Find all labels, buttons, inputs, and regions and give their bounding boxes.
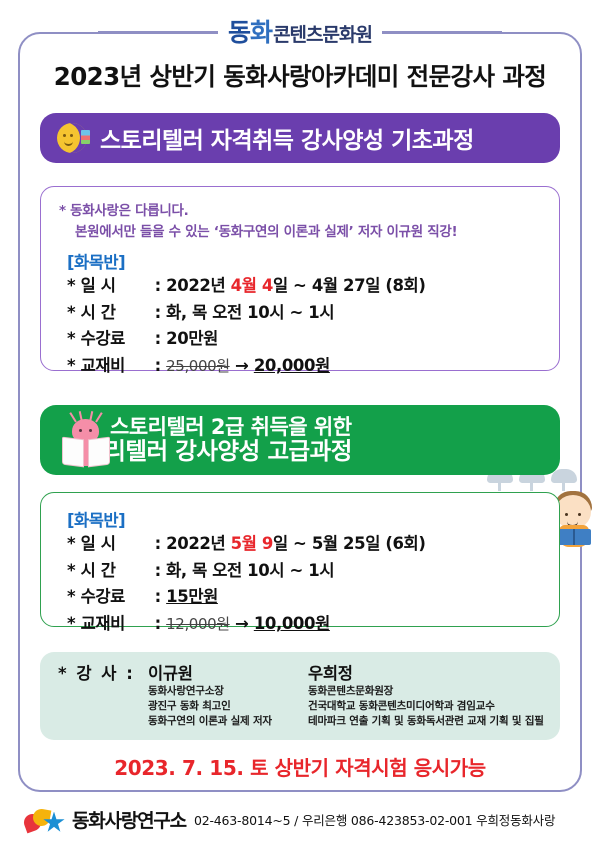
bullet: *	[67, 587, 75, 606]
basic-course-banner: 스토리텔러 자격취득 강사양성 기초과정	[40, 113, 560, 163]
row-value: 20만원	[166, 329, 218, 348]
bullet: *	[67, 276, 75, 295]
row-date-month: 5월	[231, 534, 257, 553]
row-value: 화, 목 오전 10시 ~ 1시	[166, 561, 334, 580]
brand-logo: 동화콘텐츠문화원	[218, 20, 382, 45]
instructor-1-name: 이규원	[148, 660, 193, 684]
basic-course-detail-box: * 동화사랑은 다릅니다. 본원에서만 들을 수 있는 ‘동화구연의 이론과 실…	[40, 186, 560, 371]
instructor-box: * 강 사 : 이규원 동화사랑연구소장 광진구 동화 최고인 동화구연의 이론…	[40, 652, 560, 740]
new-price: 10,000원	[254, 614, 330, 633]
row-value: 화, 목 오전 10시 ~ 1시	[166, 303, 334, 322]
basic-course-note: * 동화사랑은 다릅니다. 본원에서만 들을 수 있는 ‘동화구연의 이론과 실…	[59, 201, 457, 243]
moon-character-icon	[56, 121, 90, 155]
instructor-1-role-2: 광진구 동화 최고인	[148, 699, 272, 714]
row-label: 시 간	[81, 558, 155, 585]
new-price: 20,000원	[254, 356, 330, 375]
exam-notice: 2023. 7. 15. 토 상반기 자격시험 응시가능	[0, 752, 600, 781]
row-sep: :	[155, 587, 161, 606]
instructor-1-role-3: 동화구연의 이론과 실제 저자	[148, 714, 272, 729]
poster-root: 동화콘텐츠문화원 2023년 상반기 동화사랑아카데미 전문강사 과정 스토리텔…	[0, 0, 600, 849]
bullet: *	[67, 303, 75, 322]
bullet: *	[67, 329, 75, 348]
row-label: 일 시	[81, 273, 155, 300]
row-sep: :	[155, 276, 161, 295]
instructor-2-role-3: 테마파크 연출 기획 및 동화독서관련 교재 기획 및 집필	[308, 714, 544, 729]
basic-course-rows: [화목반] * 일 시: 2022년 4월 4일 ~ 4월 27일 (8회) *…	[67, 249, 425, 380]
price-arrow-icon: →	[235, 614, 248, 633]
advanced-course-class-label: [화목반]	[67, 507, 425, 531]
row-value: 15만원	[166, 587, 218, 606]
brand-logo-rest: 콘텐츠문화원	[273, 26, 372, 45]
bullet: *	[67, 534, 75, 553]
advanced-course-row-time: * 시 간: 화, 목 오전 10시 ~ 1시	[67, 558, 425, 585]
row-label: 교재비	[81, 353, 155, 380]
advanced-course-row-tuition: * 수강료: 15만원	[67, 584, 425, 611]
row-sep: :	[155, 356, 161, 375]
advanced-course-detail-box: [화목반] * 일 시: 2022년 5월 9일 ~ 5월 25일 (6회) *…	[40, 492, 560, 627]
old-price: 25,000원	[166, 357, 230, 375]
old-price: 12,000원	[166, 615, 230, 633]
footer-brand-name: 동화사랑연구소	[72, 806, 186, 833]
row-date-suffix: 일 ~ 4월 27일 (8회)	[273, 276, 426, 295]
basic-course-row-time: * 시 간: 화, 목 오전 10시 ~ 1시	[67, 300, 425, 327]
row-date-suffix: 일 ~ 5월 25일 (6회)	[273, 534, 426, 553]
advanced-course-row-material-fee: * 교재비: 12,000원 → 10,000원	[67, 611, 425, 638]
instructor-1-role-1: 동화사랑연구소장	[148, 684, 272, 699]
pink-bookworm-character-icon	[60, 413, 112, 469]
footer-contact-info: 02-463-8014~5 / 우리은행 086-423853-02-001 우…	[194, 810, 555, 829]
row-sep: :	[155, 329, 161, 348]
basic-course-banner-label: 스토리텔러 자격취득 강사양성 기초과정	[100, 121, 474, 155]
instructor-2-name: 우희정	[308, 660, 353, 684]
row-label: 일 시	[81, 531, 155, 558]
instructor-2-role-2: 건국대학교 동화콘텐츠미디어학과 겸임교수	[308, 699, 544, 714]
brand-rule-right	[382, 31, 502, 33]
cloud-icon	[551, 469, 577, 483]
basic-course-note-line-1: * 동화사랑은 다릅니다.	[59, 201, 457, 222]
basic-course-class-label: [화목반]	[67, 249, 425, 273]
bullet: *	[67, 356, 75, 375]
row-sep: :	[155, 303, 161, 322]
row-sep: :	[155, 534, 161, 553]
row-sep: :	[155, 561, 161, 580]
basic-course-row-material-fee: * 교재비: 25,000원 → 20,000원	[67, 353, 425, 380]
tri-star-logo-icon	[24, 807, 64, 833]
instructor-section-label: * 강 사 :	[58, 660, 135, 684]
row-date-month: 4월	[231, 276, 257, 295]
footer: 동화사랑연구소 02-463-8014~5 / 우리은행 086-423853-…	[24, 806, 555, 833]
brand-logo-header: 동화콘텐츠문화원	[0, 14, 600, 50]
boy-reading-book-icon	[557, 529, 591, 545]
advanced-course-rows: [화목반] * 일 시: 2022년 5월 9일 ~ 5월 25일 (6회) *…	[67, 507, 425, 638]
row-date-day: 9	[262, 534, 273, 553]
row-date-day: 4	[262, 276, 273, 295]
row-label: 교재비	[81, 611, 155, 638]
bullet: *	[67, 614, 75, 633]
row-label: 수강료	[81, 584, 155, 611]
brand-rule-left	[98, 31, 218, 33]
basic-course-row-date: * 일 시: 2022년 4월 4일 ~ 4월 27일 (8회)	[67, 273, 425, 300]
advanced-course-banner: 스토리텔러 2급 취득을 위한 스토리텔러 강사양성 고급과정	[40, 405, 560, 475]
price-arrow-icon: →	[235, 356, 248, 375]
basic-course-row-tuition: * 수강료: 20만원	[67, 326, 425, 353]
basic-course-note-line-2: 본원에서만 들을 수 있는 ‘동화구연의 이론과 실제’ 저자 이규원 직강!	[59, 222, 457, 243]
row-date-prefix: 2022년	[166, 534, 230, 553]
instructor-1-roles: 동화사랑연구소장 광진구 동화 최고인 동화구연의 이론과 실제 저자	[148, 684, 272, 730]
row-sep: :	[155, 614, 161, 633]
row-label: 수강료	[81, 326, 155, 353]
instructor-2-roles: 동화콘텐츠문화원장 건국대학교 동화콘텐츠미디어학과 겸임교수 테마파크 연출 …	[308, 684, 544, 730]
bullet: *	[67, 561, 75, 580]
advanced-course-row-date: * 일 시: 2022년 5월 9일 ~ 5월 25일 (6회)	[67, 531, 425, 558]
instructor-2-role-1: 동화콘텐츠문화원장	[308, 684, 544, 699]
row-date-prefix: 2022년	[166, 276, 230, 295]
brand-logo-char-1: 동	[228, 20, 250, 45]
page-title: 2023년 상반기 동화사랑아카데미 전문강사 과정	[0, 58, 600, 93]
row-label: 시 간	[81, 300, 155, 327]
brand-logo-char-2: 화	[250, 20, 272, 45]
